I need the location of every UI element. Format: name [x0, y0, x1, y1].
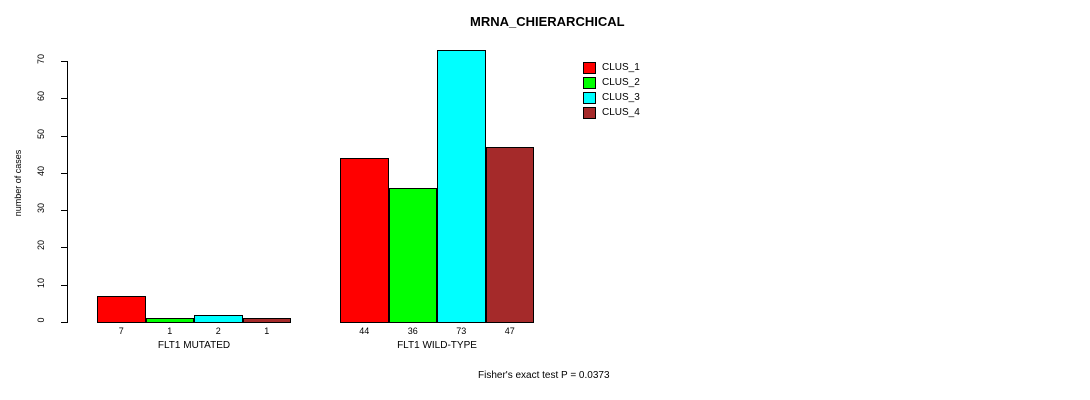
bar-count-label: 44: [340, 326, 389, 336]
legend-label: CLUS_1: [602, 62, 640, 73]
chart-title: MRNA_CHIERARCHICAL: [470, 14, 625, 29]
y-tick-mark: [61, 173, 67, 174]
bar-count-label: 7: [97, 326, 146, 336]
legend-swatch-icon: [583, 107, 596, 119]
y-tick-label: 60: [36, 81, 46, 111]
legend-swatch-icon: [583, 77, 596, 89]
y-tick-mark: [61, 247, 67, 248]
y-tick-label: 20: [36, 230, 46, 260]
legend-item[interactable]: CLUS_4: [583, 105, 640, 120]
bar-clus_1[interactable]: [340, 158, 389, 323]
bar-clus_3[interactable]: [437, 50, 486, 323]
legend-label: CLUS_4: [602, 107, 640, 118]
legend-label: CLUS_3: [602, 92, 640, 103]
bar-count-label: 36: [389, 326, 438, 336]
y-axis-line: [67, 61, 68, 323]
bar-clus_1[interactable]: [97, 296, 146, 323]
bar-clus_2[interactable]: [146, 318, 195, 323]
group-axis-label: FLT1 WILD-TYPE: [340, 340, 534, 351]
y-tick-mark: [61, 322, 67, 323]
bar-count-label: 73: [437, 326, 486, 336]
legend-item[interactable]: CLUS_3: [583, 90, 640, 105]
bar-count-label: 2: [194, 326, 243, 336]
y-tick-label: 50: [36, 119, 46, 149]
y-tick-mark: [61, 136, 67, 137]
y-tick-mark: [61, 285, 67, 286]
legend-swatch-icon: [583, 62, 596, 74]
bar-clus_4[interactable]: [243, 318, 292, 323]
legend-label: CLUS_2: [602, 77, 640, 88]
legend: CLUS_1CLUS_2CLUS_3CLUS_4: [583, 60, 640, 120]
y-axis-label: number of cases: [13, 123, 23, 243]
statistical-test-annotation: Fisher's exact test P = 0.0373: [478, 370, 610, 381]
y-tick-mark: [61, 61, 67, 62]
y-tick-label: 70: [36, 44, 46, 74]
y-tick-label: 10: [36, 268, 46, 298]
y-tick-label: 30: [36, 193, 46, 223]
y-tick-mark: [61, 210, 67, 211]
bar-count-label: 1: [243, 326, 292, 336]
legend-swatch-icon: [583, 92, 596, 104]
bar-count-label: 1: [146, 326, 195, 336]
bar-clus_2[interactable]: [389, 188, 438, 323]
barplot-figure: MRNA_CHIERARCHICAL number of cases 01020…: [0, 0, 1090, 400]
bar-clus_3[interactable]: [194, 315, 243, 323]
legend-item[interactable]: CLUS_2: [583, 75, 640, 90]
y-tick-label: 40: [36, 156, 46, 186]
group-axis-label: FLT1 MUTATED: [97, 340, 291, 351]
bar-count-label: 47: [486, 326, 535, 336]
legend-item[interactable]: CLUS_1: [583, 60, 640, 75]
bar-clus_4[interactable]: [486, 147, 535, 323]
y-tick-label: 0: [36, 305, 46, 335]
y-tick-mark: [61, 98, 67, 99]
